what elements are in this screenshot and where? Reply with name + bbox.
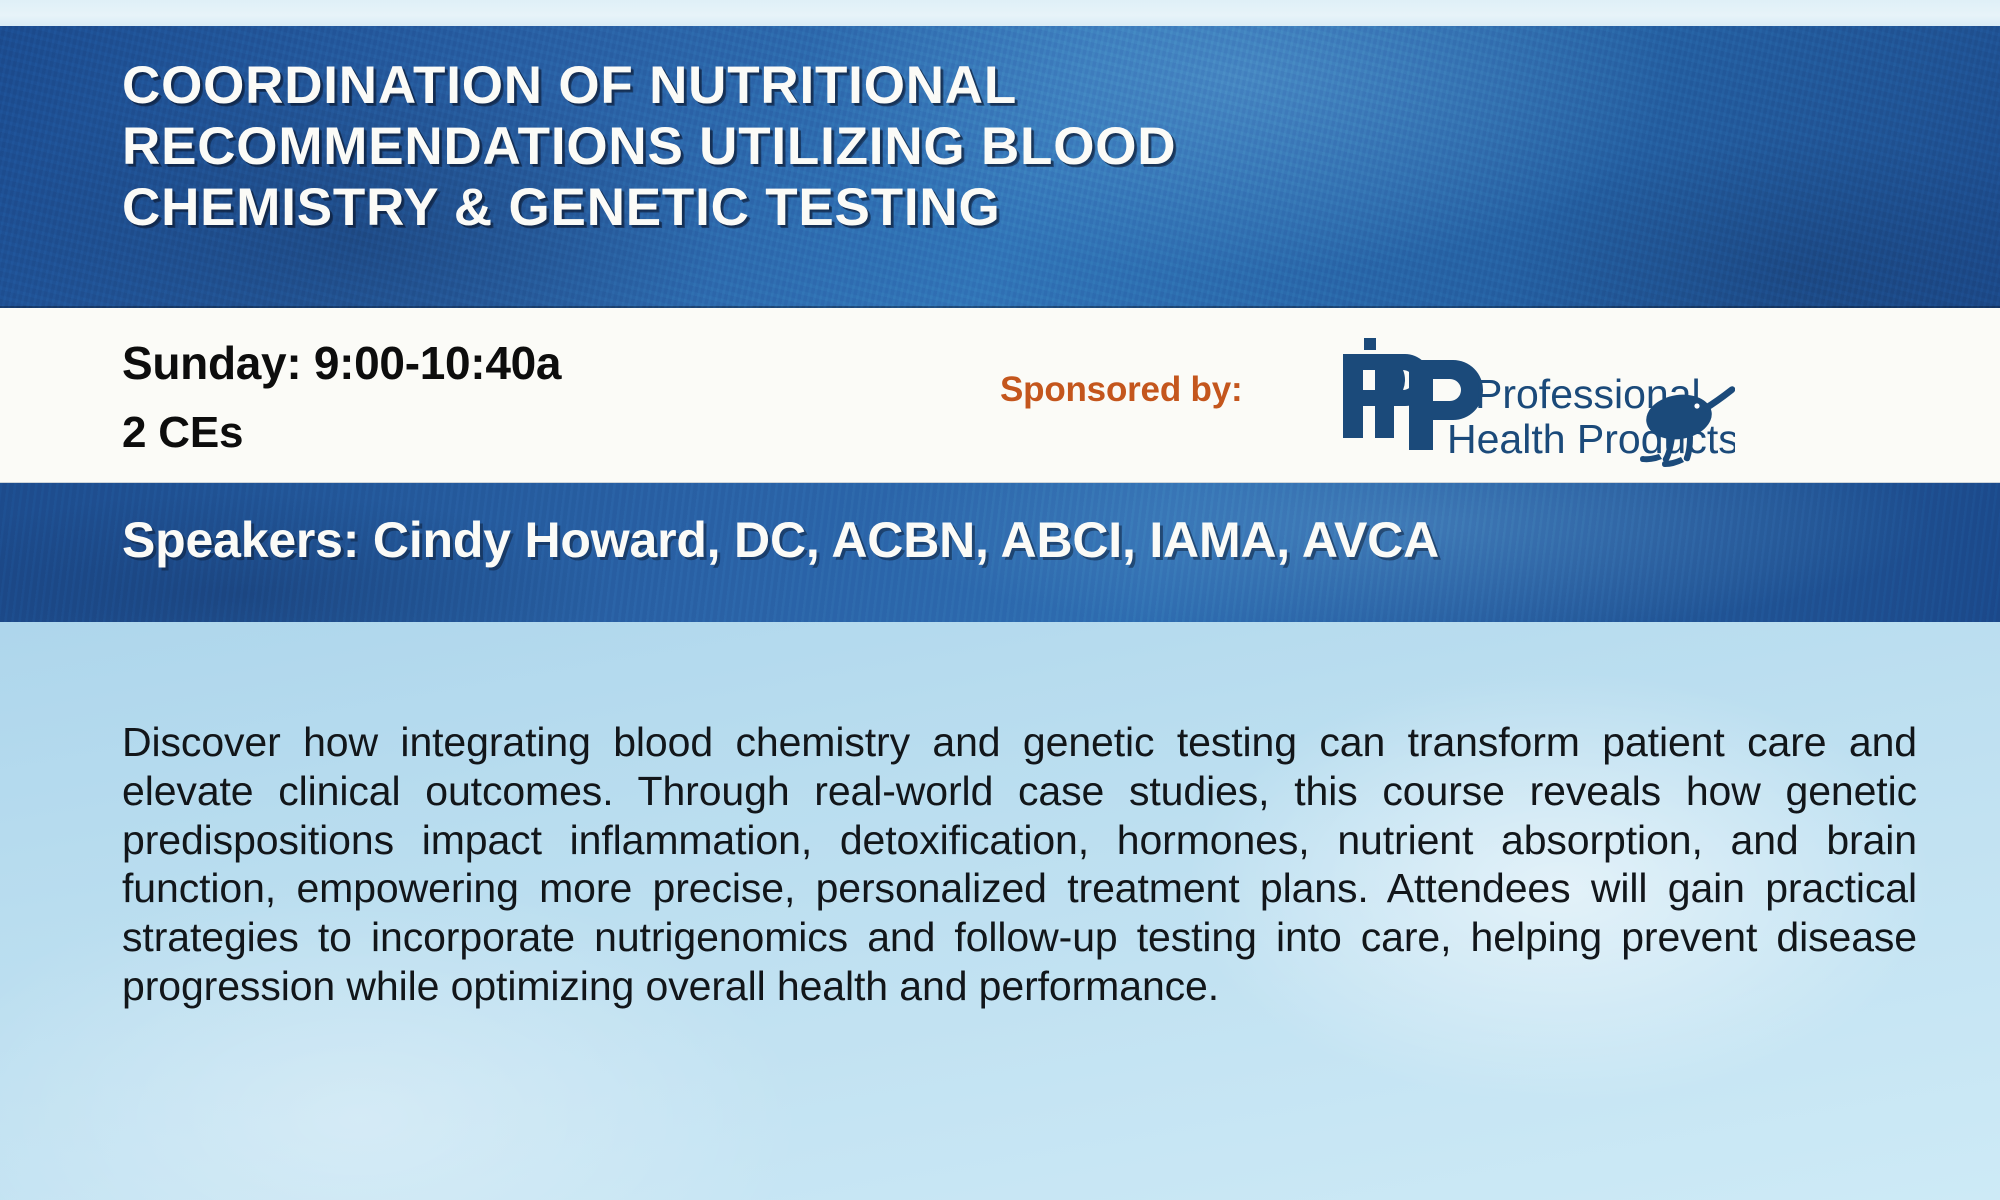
page-title: COORDINATION OF NUTRITIONAL RECOMMENDATI… [122,56,1582,239]
page-title-line-1: COORDINATION OF NUTRITIONAL [122,56,1582,117]
description-section: Discover how integrating blood chemistry… [0,622,2000,1200]
speakers-list: Speakers: Cindy Howard, DC, ACBN, ABCI, … [122,511,1439,569]
page-title-line-3: CHEMISTRY & GENETIC TESTING [122,178,1582,239]
session-credits: 2 CEs [122,408,243,458]
session-slide: COORDINATION OF NUTRITIONAL RECOMMENDATI… [0,0,2000,1200]
session-time: Sunday: 9:00-10:40a [122,336,561,390]
sponsored-by-label: Sponsored by: [1000,370,1242,410]
top-accent-strip [0,0,2000,26]
speakers-band: Speakers: Cindy Howard, DC, ACBN, ABCI, … [0,483,2000,622]
page-title-line-2: RECOMMENDATIONS UTILIZING BLOOD [122,117,1582,178]
session-info-band: Sunday: 9:00-10:40a 2 CEs Sponsored by: [0,308,2000,483]
title-band: COORDINATION OF NUTRITIONAL RECOMMENDATI… [0,26,2000,308]
session-description: Discover how integrating blood chemistry… [122,718,1917,1011]
php-logo: Professional Health Products [1335,336,1735,468]
